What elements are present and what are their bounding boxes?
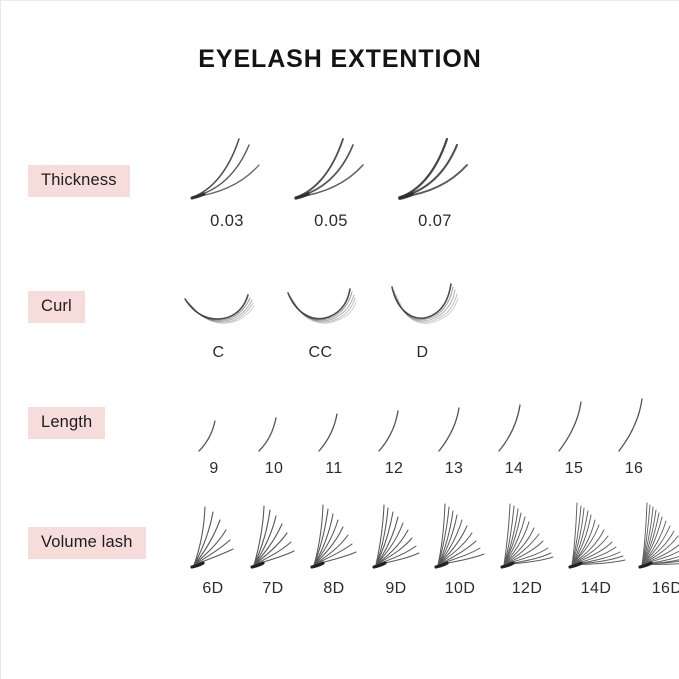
- lash-fan-icon: [187, 131, 267, 203]
- volume-fan-icon: [187, 501, 239, 573]
- lash-curl-icon: [181, 279, 256, 337]
- volume-caption-5: 12D: [512, 581, 543, 597]
- length-item-0[interactable]: 9: [191, 393, 237, 477]
- length-item-row: 9 10 11 12: [191, 393, 657, 477]
- volume-item-row: 6D 7D: [187, 501, 679, 597]
- length-item-4[interactable]: 13: [431, 393, 477, 477]
- length-caption-2: 11: [325, 461, 342, 477]
- curl-caption-2: D: [417, 345, 429, 361]
- lash-strand-icon: [611, 393, 657, 455]
- volume-caption-3: 9D: [385, 581, 406, 597]
- eyelash-extension-poster: EYELASH EXTENTION Thickness 0.03: [0, 0, 679, 679]
- curl-item-0[interactable]: C: [181, 279, 256, 361]
- volume-item-6[interactable]: 14D: [565, 501, 627, 597]
- volume-caption-2: 8D: [323, 581, 344, 597]
- volume-item-0[interactable]: 6D: [187, 501, 239, 597]
- thickness-caption-2: 0.07: [418, 213, 452, 230]
- length-item-3[interactable]: 12: [371, 393, 417, 477]
- lash-strand-icon: [191, 393, 237, 455]
- volume-caption-6: 14D: [581, 581, 612, 597]
- thickness-item-row: 0.03 0.05: [187, 131, 475, 230]
- volume-fan-icon: [497, 501, 557, 573]
- length-caption-0: 9: [209, 461, 218, 477]
- volume-fan-icon: [247, 501, 299, 573]
- volume-fan-icon: [565, 501, 627, 573]
- thickness-item-0[interactable]: 0.03: [187, 131, 267, 230]
- volume-item-2[interactable]: 8D: [307, 501, 361, 597]
- section-label-length: Length: [28, 407, 105, 439]
- length-caption-1: 10: [265, 461, 284, 477]
- volume-caption-1: 7D: [262, 581, 283, 597]
- length-item-7[interactable]: 16: [611, 393, 657, 477]
- volume-item-5[interactable]: 12D: [497, 501, 557, 597]
- lash-strand-icon: [431, 393, 477, 455]
- lash-curl-icon: [283, 279, 358, 337]
- lash-strand-icon: [491, 393, 537, 455]
- lash-fan-icon: [291, 131, 371, 203]
- length-item-6[interactable]: 15: [551, 393, 597, 477]
- lash-fan-icon: [395, 131, 475, 203]
- lash-strand-icon: [251, 393, 297, 455]
- curl-item-row: C CC: [181, 279, 460, 361]
- curl-caption-0: C: [213, 345, 225, 361]
- page-title: EYELASH EXTENTION: [1, 45, 679, 74]
- curl-caption-1: CC: [309, 345, 333, 361]
- thickness-item-2[interactable]: 0.07: [395, 131, 475, 230]
- volume-caption-7: 16D: [652, 581, 679, 597]
- length-caption-5: 14: [505, 461, 524, 477]
- lash-strand-icon: [311, 393, 357, 455]
- length-item-2[interactable]: 11: [311, 393, 357, 477]
- curl-item-1[interactable]: CC: [283, 279, 358, 361]
- curl-item-2[interactable]: D: [385, 279, 460, 361]
- lash-strand-icon: [371, 393, 417, 455]
- length-caption-3: 12: [385, 461, 404, 477]
- length-caption-4: 13: [445, 461, 464, 477]
- volume-item-4[interactable]: 10D: [431, 501, 489, 597]
- thickness-item-1[interactable]: 0.05: [291, 131, 371, 230]
- volume-item-7[interactable]: 16D: [635, 501, 679, 597]
- volume-fan-icon: [431, 501, 489, 573]
- volume-fan-icon: [369, 501, 423, 573]
- section-label-thickness: Thickness: [28, 165, 130, 197]
- lash-curl-icon: [385, 279, 460, 337]
- length-item-1[interactable]: 10: [251, 393, 297, 477]
- thickness-caption-0: 0.03: [210, 213, 244, 230]
- section-label-volume-lash: Volume lash: [28, 527, 146, 559]
- lash-strand-icon: [551, 393, 597, 455]
- length-caption-7: 16: [625, 461, 644, 477]
- length-caption-6: 15: [565, 461, 584, 477]
- volume-caption-4: 10D: [445, 581, 476, 597]
- section-label-curl: Curl: [28, 291, 85, 323]
- volume-item-1[interactable]: 7D: [247, 501, 299, 597]
- length-item-5[interactable]: 14: [491, 393, 537, 477]
- volume-fan-icon: [635, 501, 679, 573]
- thickness-caption-1: 0.05: [314, 213, 348, 230]
- volume-fan-icon: [307, 501, 361, 573]
- volume-caption-0: 6D: [202, 581, 223, 597]
- volume-item-3[interactable]: 9D: [369, 501, 423, 597]
